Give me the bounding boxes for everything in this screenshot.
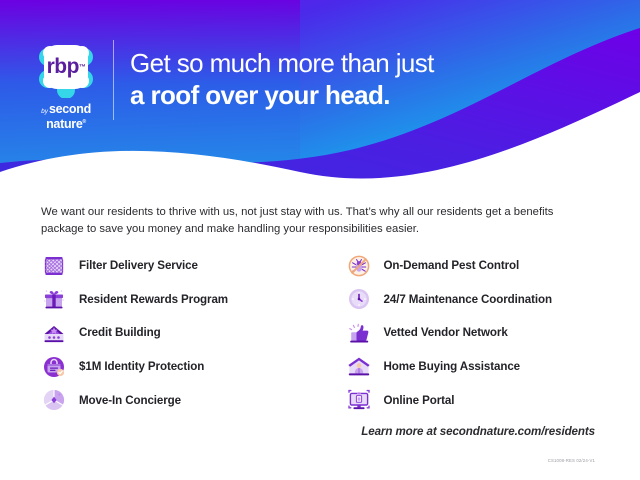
briefcase-lock-icon <box>41 354 67 380</box>
learn-more-text: Learn more at secondnature.com/residents <box>361 425 595 438</box>
logo-divider <box>113 40 114 120</box>
headline: Get so much more than just a roof over y… <box>130 47 434 111</box>
second-nature-trademark: ® <box>83 118 86 124</box>
benefit-item-identity-protection: $1M Identity Protection <box>41 350 297 384</box>
headline-line-2: a roof over your head. <box>130 79 434 111</box>
benefit-item-vetted-vendor-network: Vetted Vendor Network <box>346 316 602 350</box>
benefits-column-left: Filter Delivery Service <box>41 249 297 417</box>
benefit-item-maintenance-coordination: 24/7 Maintenance Coordination <box>346 283 602 317</box>
headline-line-1: Get so much more than just <box>130 47 434 79</box>
benefit-label: Home Buying Assistance <box>384 360 521 373</box>
benefit-label: 24/7 Maintenance Coordination <box>384 293 552 306</box>
fine-print-code: CS1008-RES 02/24-V1 <box>548 458 595 463</box>
thumbs-up-icon <box>346 320 372 346</box>
gift-box-icon <box>41 286 67 312</box>
benefit-item-filter-delivery-service: Filter Delivery Service <box>41 249 297 283</box>
benefit-label: On-Demand Pest Control <box>384 259 520 272</box>
second-label: second <box>49 102 91 116</box>
monitor-icon <box>346 387 372 413</box>
second-nature-line1: bysecond <box>30 101 102 118</box>
rbp-wordmark-text: rbp <box>47 55 79 79</box>
concierge-compass-icon <box>41 387 67 413</box>
benefit-label: $1M Identity Protection <box>79 360 204 373</box>
benefit-label: Vetted Vendor Network <box>384 326 508 339</box>
by-label: by <box>41 108 48 115</box>
benefit-item-credit-building: Credit Building <box>41 316 297 350</box>
second-nature-line2: nature® <box>30 118 102 131</box>
benefit-label: Credit Building <box>79 326 161 339</box>
benefit-label: Resident Rewards Program <box>79 293 228 306</box>
house-person-icon <box>346 354 372 380</box>
benefit-item-online-portal: Online Portal <box>346 383 602 417</box>
benefits-section: Filter Delivery Service <box>41 249 601 417</box>
benefit-label: Filter Delivery Service <box>79 259 198 272</box>
rbp-trademark: ™ <box>79 64 86 71</box>
intro-paragraph: We want our residents to thrive with us,… <box>41 204 597 238</box>
nature-label: nature <box>46 117 82 131</box>
benefit-item-home-buying-assistance: Home Buying Assistance <box>346 350 602 384</box>
rbp-wordmark: rbp™ <box>36 38 96 98</box>
rbp-logo-lockup: rbp™ bysecond nature® <box>30 38 102 124</box>
benefit-item-on-demand-pest-control: On-Demand Pest Control <box>346 249 602 283</box>
credit-chart-icon <box>41 320 67 346</box>
air-filter-icon <box>41 253 67 279</box>
flyer-page: rbp™ bysecond nature® Get so much more t… <box>0 0 640 480</box>
no-pest-icon <box>346 253 372 279</box>
benefit-label: Move-In Concierge <box>79 394 181 407</box>
benefit-item-move-in-concierge: Move-In Concierge <box>41 383 297 417</box>
benefit-item-resident-rewards-program: Resident Rewards Program <box>41 283 297 317</box>
second-nature-lockup: bysecond nature® <box>30 101 102 131</box>
benefits-column-right: On-Demand Pest Control 24/7 Mai <box>346 249 602 417</box>
rbp-badge: rbp™ <box>36 38 96 98</box>
clock-icon <box>346 286 372 312</box>
benefit-label: Online Portal <box>384 394 455 407</box>
